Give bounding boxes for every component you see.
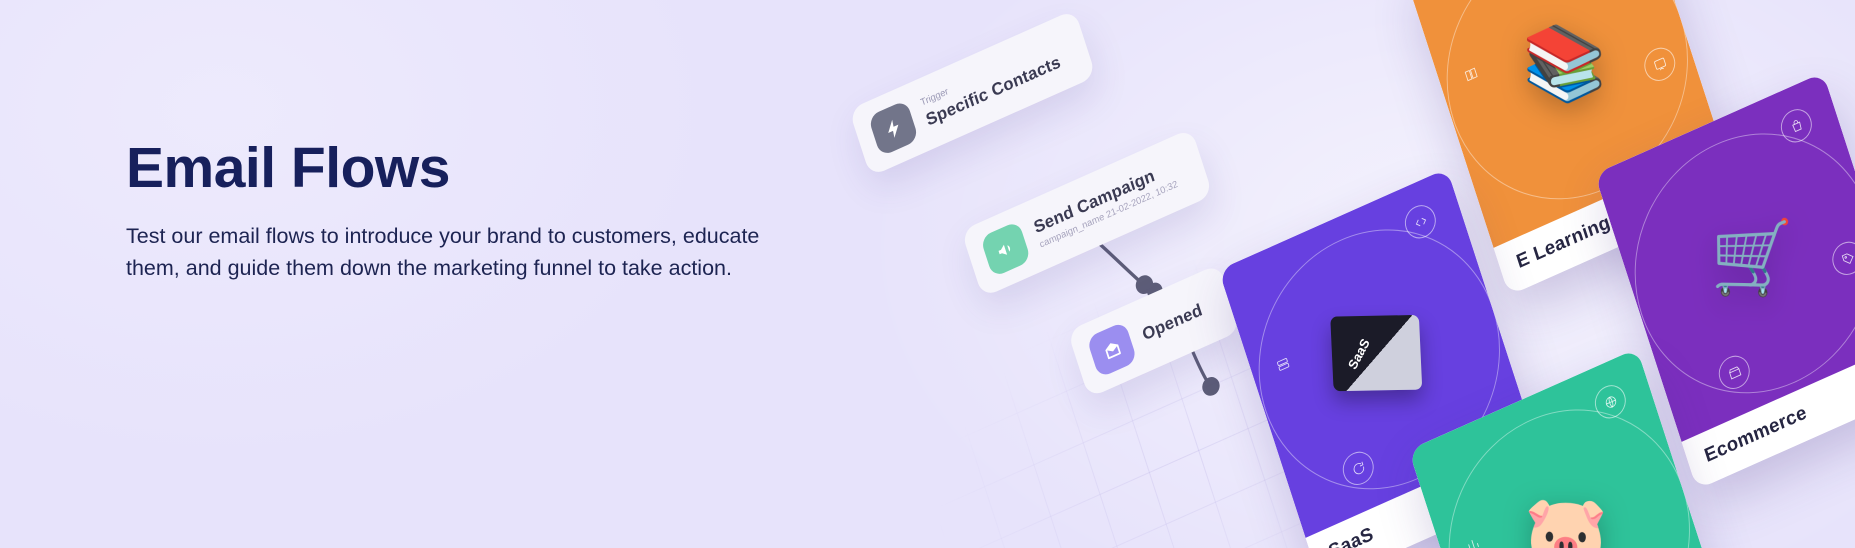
flow-illustration: Trigger Specific Contacts Send Campaign … <box>835 0 1855 548</box>
open-envelope-glyph <box>1099 335 1125 364</box>
piggy-bank-illustration: 🐷 <box>1524 496 1609 548</box>
hero-description: Test our email flows to introduce your b… <box>126 220 766 285</box>
shopping-cart-illustration: 🛒 <box>1710 220 1795 294</box>
flow-node-title: Opened <box>1140 300 1205 345</box>
megaphone-icon <box>980 220 1031 277</box>
open-envelope-icon <box>1086 321 1137 378</box>
lightning-bolt-glyph <box>881 114 907 143</box>
lightning-bolt-icon <box>868 100 919 157</box>
megaphone-glyph <box>993 235 1019 264</box>
page-title: Email Flows <box>126 138 826 200</box>
email-flows-hero: Email Flows Test our email flows to intr… <box>0 0 1855 548</box>
laptop-saas-illustration: SaaS <box>1330 315 1422 391</box>
stacked-books-illustration: 📚 <box>1522 26 1607 100</box>
hero-copy: Email Flows Test our email flows to intr… <box>126 138 826 285</box>
flow-node-trigger[interactable]: Trigger Specific Contacts <box>849 9 1096 176</box>
